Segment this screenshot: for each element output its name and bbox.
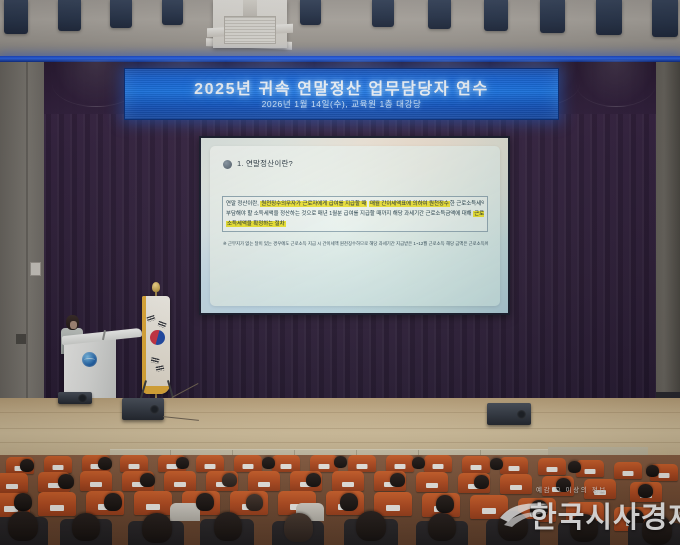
curtain-swag: [576, 60, 656, 107]
seat-number-tag: [585, 469, 596, 474]
seat-number-tag: [426, 483, 438, 488]
led-banner: 2025년 귀속 연말정산 업무담당자 연수 2026년 1월 14일(수), …: [124, 68, 559, 120]
seat[interactable]: [374, 492, 412, 516]
seat[interactable]: [164, 471, 196, 491]
floor-plank-seam: [0, 428, 680, 429]
seat[interactable]: [500, 457, 528, 474]
attendee-head: [474, 475, 489, 489]
seat[interactable]: [538, 458, 566, 475]
flag-gold-fringe: [142, 296, 170, 394]
attendee-head: [222, 473, 237, 487]
attendee-head: [140, 473, 155, 487]
seat-number-tag: [146, 504, 160, 510]
attendee-head: [196, 493, 214, 511]
seat[interactable]: [0, 473, 28, 493]
ceiling: [0, 0, 680, 56]
seat[interactable]: [196, 455, 224, 472]
attendee-head: [20, 459, 34, 472]
seat[interactable]: [614, 462, 642, 479]
attendee-head: [14, 493, 32, 511]
stage-floor-monitor-right: [487, 403, 531, 425]
attendee-head: [570, 514, 598, 542]
seat-number-tag: [319, 464, 330, 469]
attendee-head: [334, 456, 347, 468]
seat[interactable]: [500, 474, 532, 494]
projection-screen: 1. 연말정산이란? 연말 정산이란, 원천징수의무자가 근로자에게 급여를 지…: [201, 138, 508, 313]
audience-seating-area: [0, 455, 680, 545]
attendee-head: [306, 473, 321, 487]
seat-number-tag: [281, 464, 292, 469]
ceiling-acoustic-panel: [110, 0, 132, 28]
attendee-head: [412, 457, 425, 469]
seat-number-tag: [174, 482, 186, 487]
attendee-head: [142, 513, 172, 543]
seat-number-tag: [623, 471, 634, 476]
wall-seam: [26, 62, 28, 412]
attendee-head: [498, 511, 528, 541]
seat[interactable]: [348, 455, 376, 472]
ceiling-acoustic-panel: [652, 0, 678, 37]
slide-body-line: 연말 정산이란, 원천징수의무자가 근로자에게 급여를 지급할 때 매월 간이세…: [226, 199, 484, 209]
attendee-head: [104, 493, 122, 511]
attendee-head: [556, 478, 571, 492]
slide-text-highlighted: 원천징수의무자가 근로자에게 급여를 지급할 때: [260, 201, 367, 207]
seat-number-tag: [357, 464, 368, 469]
projector-vent-grille: [224, 16, 276, 44]
floor-plank-seam: [0, 442, 680, 443]
slide-text-highlighted: 근로자가 제출한 소득·세액공제신고서 내용에 따라 연간: [473, 211, 484, 217]
attendee-head: [176, 457, 189, 469]
seat-number-tag: [471, 465, 482, 470]
flag-finial-icon: [152, 282, 160, 292]
presentation-slide: 1. 연말정산이란? 연말 정산이란, 원천징수의무자가 근로자에게 급여를 지…: [210, 146, 500, 306]
seat[interactable]: [234, 455, 262, 472]
stage-floor-monitor-left: [122, 398, 164, 420]
seat-number-tag: [594, 490, 606, 495]
attendee-head: [530, 500, 548, 518]
seat-number-tag: [509, 466, 520, 471]
attendee-head: [390, 473, 405, 487]
seat-number-tag: [90, 482, 102, 487]
attendee-head: [246, 494, 263, 511]
attendee-head: [262, 457, 275, 469]
floor-plank-seam: [0, 412, 680, 413]
attendee-head: [340, 493, 358, 511]
attendee-head: [490, 458, 503, 470]
attendee-head: [428, 513, 456, 541]
seat-number-tag: [510, 485, 522, 490]
ceiling-acoustic-panel: [162, 0, 183, 25]
seat[interactable]: [462, 456, 490, 473]
seat[interactable]: [134, 491, 172, 515]
globe-emblem-icon: [82, 352, 97, 367]
seat-number-tag: [659, 473, 670, 478]
seat-number-tag: [50, 505, 64, 511]
attendee-head: [8, 511, 38, 541]
seat-number-tag: [482, 508, 496, 514]
slide-text-highlighted: 소득세액을 확정하는 절차: [226, 221, 286, 227]
seat[interactable]: [386, 455, 414, 472]
slide-text-plain: 부담해야 할 소득세액을 정산하는 것으로 매년 1월분 급여를 지급할 때까지…: [226, 211, 473, 217]
attendee-head: [646, 465, 659, 477]
seat-number-tag: [386, 505, 400, 511]
seat[interactable]: [416, 472, 448, 492]
ceiling-acoustic-panel: [4, 0, 28, 34]
slide-heading: 1. 연말정산이란?: [237, 158, 293, 169]
attendee-head: [214, 512, 242, 541]
seat-number-tag: [53, 465, 64, 470]
ceiling-acoustic-panel: [372, 0, 394, 27]
seat[interactable]: [80, 471, 112, 491]
seat-number-tag: [547, 467, 558, 472]
seat-number-tag: [129, 464, 140, 469]
attendee-head: [642, 515, 672, 545]
ceiling-acoustic-panel: [428, 0, 451, 29]
seat-number-tag: [342, 482, 354, 487]
seat[interactable]: [424, 455, 452, 472]
banner-title: 2025년 귀속 연말정산 업무담당자 연수: [125, 75, 558, 99]
slide-text-plain: 연말 정산이란,: [226, 201, 260, 207]
slide-definition-box: 연말 정산이란, 원천징수의무자가 근로자에게 급여를 지급할 때 매월 간이세…: [222, 196, 488, 232]
slide-body-line: 부담해야 할 소득세액을 정산하는 것으로 매년 1월분 급여를 지급할 때까지…: [226, 209, 484, 219]
projector-neck: [243, 0, 257, 16]
seat[interactable]: [584, 479, 616, 499]
seat-number-tag: [395, 464, 406, 469]
wall-outlet[interactable]: [16, 334, 26, 344]
attendee-head: [98, 457, 112, 470]
seat[interactable]: [120, 455, 148, 472]
seat[interactable]: [248, 471, 280, 491]
projection-screen-frame: 1. 연말정산이란? 연말 정산이란, 원천징수의무자가 근로자에게 급여를 지…: [199, 136, 510, 315]
attendee-head: [568, 461, 581, 473]
slide-footnote: ※ 근무지가 없는 달이 있는 경우에도 근로소득 지급 시 간이세액 원천징수…: [223, 239, 488, 248]
seat-number-tag: [258, 482, 270, 487]
slide-bullet-icon: [223, 160, 232, 169]
seat[interactable]: [332, 471, 364, 491]
seat-number-tag: [6, 484, 18, 489]
seat-number-tag: [433, 464, 444, 469]
auditorium-photo: 2025년 귀속 연말정산 업무담당자 연수 2026년 1월 14일(수), …: [0, 0, 680, 545]
ceiling-acoustic-panel: [58, 0, 81, 31]
attendee-head: [638, 484, 653, 498]
ceiling-acoustic-panel: [540, 0, 565, 33]
seat[interactable]: [44, 456, 72, 473]
attendee-head: [356, 511, 386, 541]
attendee-head: [58, 474, 74, 489]
seat[interactable]: [272, 455, 300, 472]
attendee-head: [284, 513, 313, 542]
ceiling-acoustic-panel: [596, 0, 622, 35]
slide-text-highlighted: 매월 간이세액표에 의하여 원천징수: [369, 201, 450, 207]
seat-number-tag: [205, 464, 216, 469]
wall-switch-plate[interactable]: [30, 262, 41, 276]
seat[interactable]: [38, 492, 76, 516]
slide-text-plain: 한 근로소득세액과 1년간: [450, 201, 484, 207]
attendee-head: [72, 513, 100, 541]
ceiling-acoustic-panel: [300, 0, 321, 25]
stage-side-equipment-case: [58, 392, 92, 404]
seat-number-tag: [243, 464, 254, 469]
presenter-face: [70, 321, 77, 329]
slide-body-line: 소득세액을 확정하는 절차: [226, 219, 484, 229]
ceiling-acoustic-panel: [484, 0, 508, 31]
taegeuk-circle-icon: [150, 330, 165, 345]
attendee-head: [436, 495, 454, 513]
banner-subtitle: 2026년 1월 14일(수), 교육원 1층 대강당: [125, 98, 558, 110]
